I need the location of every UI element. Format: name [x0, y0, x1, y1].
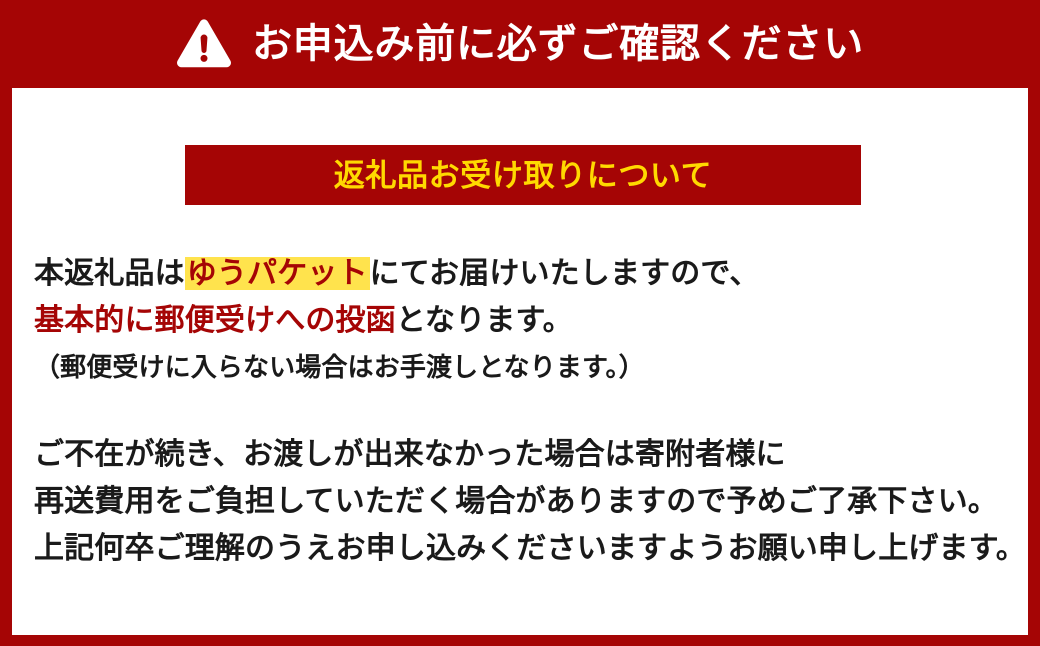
paragraph-delivery: 本返礼品はゆうパケットにてお届けいたしますので、 基本的に郵便受けへの投函となり…: [34, 250, 1018, 391]
body-block: 本返礼品はゆうパケットにてお届けいたしますので、 基本的に郵便受けへの投函となり…: [34, 250, 1018, 572]
notice-card: お申込み前に必ずご確認ください 返礼品お受け取りについて 本返礼品はゆうパケット…: [0, 0, 1040, 646]
subtitle-text: 返礼品お受け取りについて: [334, 160, 713, 191]
paragraph-spacer: [34, 391, 1018, 431]
body-line-1: 本返礼品はゆうパケットにてお届けいたしますので、: [34, 250, 1018, 297]
subtitle-band: 返礼品お受け取りについて: [185, 145, 861, 205]
body-line-1-after: にてお届けいたしますので、: [370, 257, 760, 290]
warning-triangle-icon: [176, 18, 232, 70]
paragraph-redelivery: ご不在が続き、お渡しが出来なかった場合は寄附者様に 再送費用をご負担していただく…: [34, 431, 1018, 572]
mailbox-delivery-emphasis: 基本的に郵便受けへの投函: [34, 304, 396, 337]
body-line-3: （郵便受けに入らない場合はお手渡しとなります。）: [34, 344, 1018, 391]
body-line-4: ご不在が続き、お渡しが出来なかった場合は寄附者様に: [34, 431, 1018, 478]
body-line-1-before: 本返礼品は: [34, 257, 185, 290]
body-line-2-rest: となります。: [396, 304, 573, 337]
body-line-5: 再送費用をご負担していただく場合がありますので予めご了承下さい。: [34, 478, 1018, 525]
body-line-2: 基本的に郵便受けへの投函となります。: [34, 297, 1018, 344]
header-band: お申込み前に必ずご確認ください: [0, 0, 1040, 88]
header-title: お申込み前に必ずご確認ください: [252, 24, 864, 64]
body-line-6: 上記何卒ご理解のうえお申し込みくださいますようお願い申し上げます。: [34, 525, 1018, 572]
yu-packet-highlight: ゆうパケット: [185, 257, 370, 290]
